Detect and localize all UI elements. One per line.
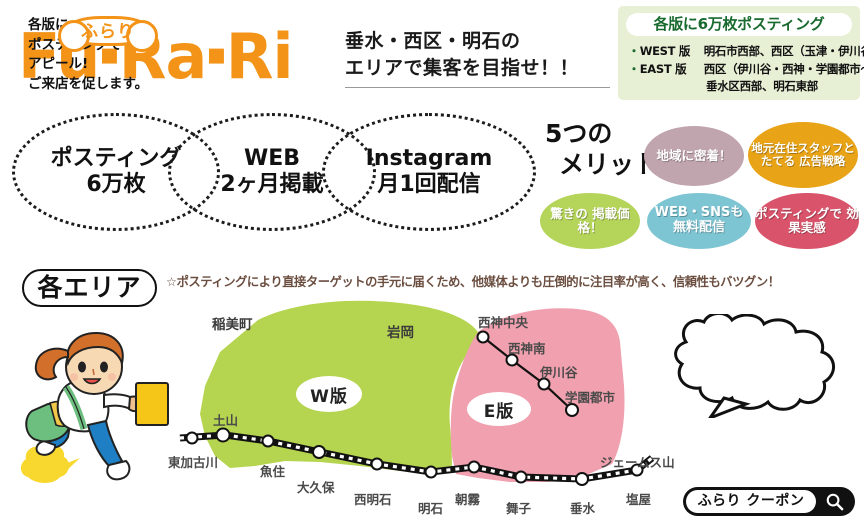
logo-part-ri: Ri — [226, 20, 293, 93]
speech-bubble-line-4: ご来店を促します。 — [28, 75, 148, 95]
merit-bubble-effect-line1: ポスティングで — [755, 206, 842, 221]
merits-title-line1: 5つの — [545, 119, 612, 148]
map-station-ikawadani: 伊川谷 — [540, 362, 578, 381]
map-station-seishin-chuo: 西神中央 — [478, 312, 528, 331]
map-station-nishiakashi: 西明石 — [354, 489, 392, 508]
area-section-caption: ☆ポスティングにより直接ターゲットの手元に届くため、他媒体よりも圧倒的に注目率が… — [166, 272, 780, 290]
search-bar[interactable]: ふらり クーポン — [683, 487, 855, 516]
search-icon[interactable] — [825, 492, 844, 511]
edition-area-east: 西区（伊川谷・西神・学園都市～） — [704, 62, 864, 76]
logo-separator-2: ▪ — [206, 37, 225, 72]
posting-info-row-east-cont: 垂水区西部、明石東部 — [706, 78, 818, 94]
merits-title: 5つの メリット — [545, 118, 659, 181]
edition-tag-west: WEST 版 — [640, 43, 704, 59]
merits-title-line2: メリット — [545, 149, 659, 180]
feature-oval-instagram-line2: 月1回配信 — [366, 172, 493, 198]
bullet-icon: ・ — [628, 44, 640, 58]
merit-bubble-effect: ポスティングで 効果実感 — [755, 193, 859, 249]
map-station-seishin-minami: 西神南 — [508, 338, 546, 357]
merit-bubble-staff-line1: 地元在住スタッフと — [751, 141, 855, 155]
map-station-jamesyama: ジェームス山 — [600, 452, 675, 471]
merit-bubble-sns-line2: 無料配信 — [673, 220, 725, 235]
bullet-icon: ・ — [628, 62, 640, 76]
map-station-okubo: 大久保 — [297, 477, 335, 496]
map-badge-west: W版 — [296, 376, 362, 412]
merit-bubble-sns: WEB・SNSも 無料配信 — [647, 193, 751, 249]
merit-bubble-price: 驚きの 掲載価格！ — [540, 193, 640, 249]
map-badge-east: E版 — [467, 392, 531, 426]
merit-bubble-price-line1: 驚きの — [550, 206, 588, 221]
map-station-asagiri: 朝霧 — [455, 489, 480, 508]
search-input[interactable]: ふらり クーポン — [686, 490, 816, 513]
feature-oval-web-line2: 2ヶ月掲載 — [220, 172, 323, 198]
edition-area-west: 明石市西部、西区（玉津・伊川谷） — [704, 44, 864, 58]
map-station-maiko: 舞子 — [506, 498, 531, 517]
merit-bubble-staff-line3: 広告戦略 — [799, 154, 845, 168]
poster-root: ふらり Fu▪Ra▪Ri 垂水・西区・明石の エリアで集客を目指せ！！ 各版に6… — [0, 0, 864, 525]
speech-bubble — [660, 314, 856, 418]
map-station-akashi: 明石 — [418, 498, 443, 517]
merit-bubble-local: 地域に密着！ — [644, 126, 744, 186]
headline-line-2: エリアで集客を目指せ！！ — [345, 55, 610, 82]
map-station-uozumi: 魚住 — [260, 461, 285, 480]
merit-bubble-staff: 地元在住スタッフと たてる 広告戦略 — [748, 122, 858, 188]
map-label-inamicho: 稲美町 — [212, 313, 253, 333]
headline-line-1: 垂水・西区・明石の — [345, 28, 610, 55]
map-station-gakuentoshi: 学園都市 — [565, 387, 615, 406]
feature-oval-web-line1: WEB — [220, 146, 323, 172]
posting-info-row-east: ・EAST 版西区（伊川谷・西神・学園都市～） — [628, 60, 864, 77]
merit-bubble-staff-line2: たてる — [761, 154, 796, 168]
speech-bubble-line-3: アピール! — [28, 55, 148, 75]
posting-info-row-west: ・WEST 版明石市西部、西区（玉津・伊川谷） — [628, 42, 864, 59]
map-station-tsuchiyama: 土山 — [213, 410, 238, 429]
posting-info-title: 各版に6万枚ポスティング — [626, 13, 852, 36]
feature-oval-posting-line2: 6万枚 — [51, 172, 182, 198]
feature-oval-posting-line1: ポスティング — [51, 146, 182, 172]
map-station-tarumi: 垂水 — [570, 498, 595, 517]
merit-bubble-sns-line1: WEB・SNSも — [655, 205, 744, 220]
merit-bubble-local-line1: 地域に密着！ — [656, 148, 731, 163]
map-label-iwaoka: 岩岡 — [387, 321, 414, 341]
feature-oval-instagram: Instagram 月1回配信 — [322, 113, 536, 231]
poster-delivery-girl-illustration — [14, 325, 184, 510]
posting-info-box: 各版に6万枚ポスティング ・WEST 版明石市西部、西区（玉津・伊川谷） ・EA… — [618, 6, 860, 100]
feature-oval-instagram-line1: Instagram — [366, 146, 493, 172]
furari-badge: ふらり — [64, 16, 152, 46]
headline: 垂水・西区・明石の エリアで集客を目指せ！！ — [345, 28, 610, 88]
edition-tag-east: EAST 版 — [640, 61, 704, 77]
map-station-shioya: 塩屋 — [626, 489, 651, 508]
